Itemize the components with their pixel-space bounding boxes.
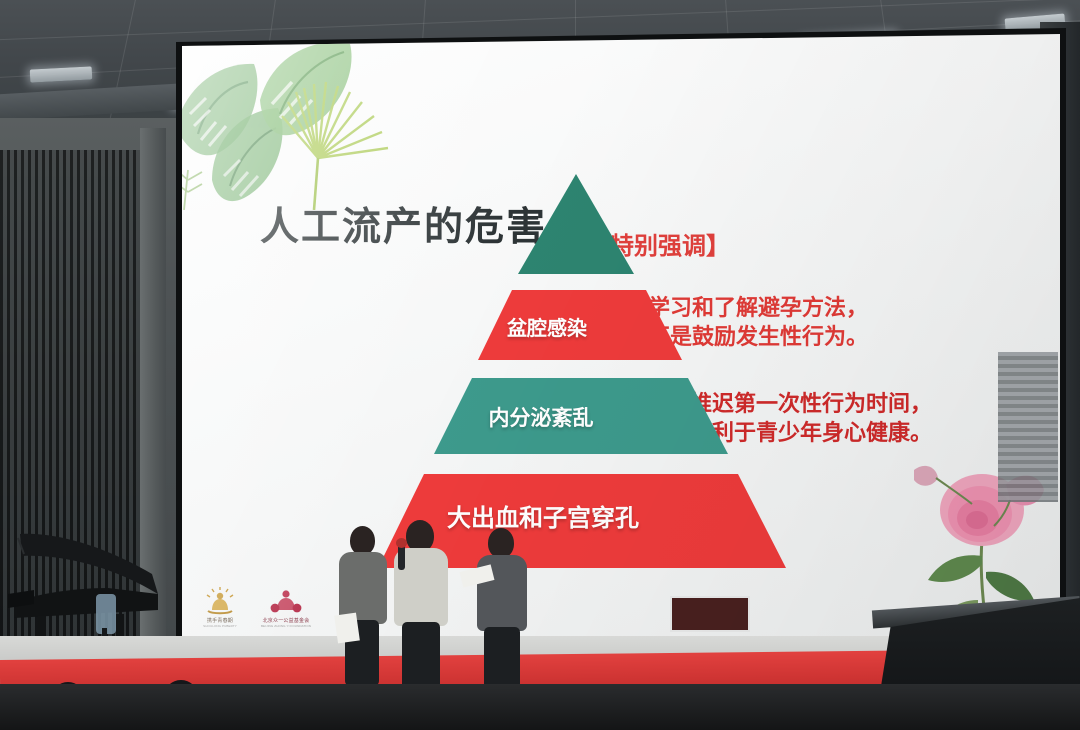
slide-logos: 携手青春期 SHOULONG PUBERTY 北京众一公益基金会 BEIJING… <box>194 587 312 628</box>
dark-rectangle-object <box>670 596 750 632</box>
auditorium-photo: 人工流产的危害 【特别强调】 学习和了解避孕方法， 不是鼓励发生性行为。 推迟第… <box>0 0 1080 730</box>
presenter-head <box>350 526 375 555</box>
projection-screen: 人工流产的危害 【特别强调】 学习和了解避孕方法， 不是鼓励发生性行为。 推迟第… <box>182 34 1060 646</box>
stage-front-shadow <box>0 684 1080 730</box>
pyramid-level-2-label: 内分泌紊乱 <box>182 402 980 432</box>
slide: 人工流产的危害 【特别强调】 学习和了解避孕方法， 不是鼓励发生性行为。 推迟第… <box>182 34 1060 646</box>
pyramid-level-0-shape <box>518 174 634 274</box>
presenter-center <box>392 520 452 692</box>
presenter-head <box>488 528 514 558</box>
pyramid-level-1-label: 盆腔感染 <box>182 312 986 341</box>
logo-subcaption: BEIJING ZHONG YI FOUNDATION <box>261 624 311 628</box>
ceiling-light-panel <box>30 66 93 82</box>
logo-pink-figure: 北京众一公益基金会 BEIJING ZHONG YI FOUNDATION <box>260 587 312 628</box>
logo-gold-figure: 携手青春期 SHOULONG PUBERTY <box>194 587 246 628</box>
presenter-right <box>475 528 533 694</box>
microphone-head-icon <box>396 538 407 548</box>
presenter-paper <box>334 613 360 644</box>
gold-figure-icon <box>202 587 238 617</box>
logo-subcaption: SHOULONG PUBERTY <box>203 624 237 628</box>
presenter-left <box>336 526 392 686</box>
wall-vent-panel <box>998 352 1058 502</box>
pink-figure-icon <box>268 587 304 617</box>
pyramid-level-3-label: 大出血和子宫穿孔 <box>182 498 982 533</box>
